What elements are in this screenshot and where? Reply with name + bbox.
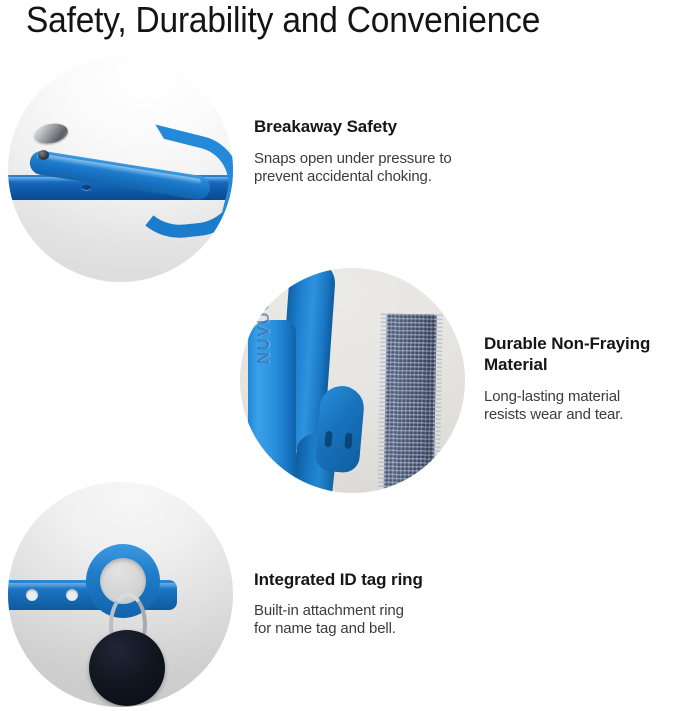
- silicone-buckle: [314, 384, 365, 474]
- feature-image-integrated-id-tag-ring: [8, 482, 233, 707]
- strap-hole-icon: [82, 185, 91, 190]
- feature-body-line: Long-lasting material: [484, 388, 679, 406]
- feature-heading-durable-non-fraying-material: Durable Non-Fraying Material: [484, 333, 679, 375]
- feature-image-durable-non-fraying-material: NUVUO: [240, 268, 465, 493]
- brand-emboss-label: NUVUO: [254, 268, 274, 364]
- buckle-slot-icon: [324, 431, 332, 448]
- snap-rivet-icon: [38, 150, 49, 160]
- strap-hole-icon: [26, 589, 38, 601]
- silicone-collar-face: NUVUO: [248, 320, 296, 493]
- feature-body-breakaway-safety: Snaps open under pressure to prevent acc…: [254, 150, 524, 186]
- strap-hole-icon: [66, 589, 78, 601]
- feature-heading-integrated-id-tag-ring: Integrated ID tag ring: [254, 569, 514, 590]
- feature-heading-line: Durable Non-Fraying: [484, 333, 679, 354]
- page-title: Safety, Durability and Convenience: [26, 0, 621, 42]
- feature-body-line: for name tag and bell.: [254, 620, 504, 638]
- feature-body-durable-non-fraying-material: Long-lasting material resists wear and t…: [484, 388, 679, 424]
- id-tag: [89, 630, 165, 706]
- feature-image-breakaway-safety: [8, 57, 233, 282]
- buckle-slot-icon: [344, 433, 352, 450]
- feature-body-line: Built-in attachment ring: [254, 602, 504, 620]
- feature-body-line: Snaps open under pressure to: [254, 150, 524, 168]
- feature-heading-line: Material: [484, 354, 679, 375]
- feature-heading-breakaway-safety: Breakaway Safety: [254, 116, 514, 137]
- feature-body-line: resists wear and tear.: [484, 406, 679, 424]
- feature-body-line: prevent accidental choking.: [254, 168, 524, 186]
- frayed-fabric-strap: [383, 314, 436, 493]
- feature-body-integrated-id-tag-ring: Built-in attachment ring for name tag an…: [254, 602, 504, 638]
